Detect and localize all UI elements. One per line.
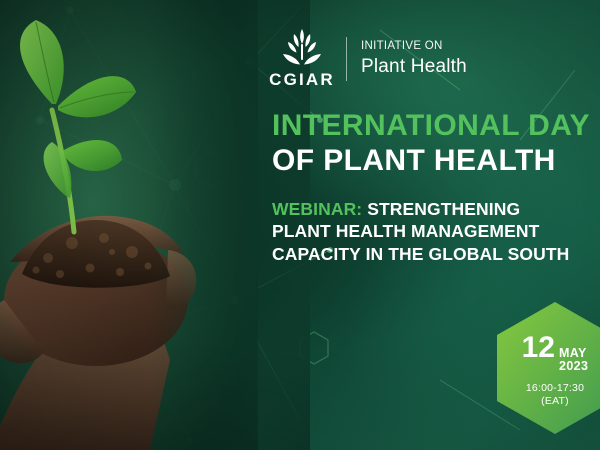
- wheat-sheaf-icon: [279, 28, 325, 68]
- headline-line-2: OF PLANT HEALTH: [272, 144, 600, 178]
- subhead: WEBINAR: STRENGTHENING PLANT HEALTH MANA…: [272, 198, 600, 265]
- cgiar-wordmark: CGIAR: [269, 70, 335, 90]
- subhead-line-2: PLANT HEALTH MANAGEMENT: [272, 220, 600, 242]
- initiative-lockup-text: INITIATIVE ON Plant Health: [361, 40, 467, 77]
- date-badge-content: 12 MAY 2023 16:00-17:30 (EAT): [492, 300, 600, 436]
- subhead-line-1: WEBINAR: STRENGTHENING: [272, 198, 600, 220]
- event-timezone: (EAT): [541, 395, 569, 407]
- date-badge: 12 MAY 2023 16:00-17:30 (EAT): [492, 300, 600, 436]
- subhead-line-1-rest: STRENGTHENING: [362, 199, 520, 219]
- headline: INTERNATIONAL DAY OF PLANT HEALTH: [272, 110, 600, 178]
- logo-divider: [346, 37, 347, 81]
- plant-health-webinar-banner: CGIAR INITIATIVE ON Plant Health INTERNA…: [0, 0, 600, 450]
- cgiar-logo-lockup: CGIAR INITIATIVE ON Plant Health: [272, 28, 467, 90]
- webinar-label: WEBINAR:: [272, 199, 362, 219]
- initiative-label: INITIATIVE ON: [361, 40, 467, 53]
- date-month-year: MAY 2023: [559, 347, 588, 373]
- event-time: 16:00-17:30: [526, 382, 584, 394]
- date-year: 2023: [559, 360, 588, 373]
- subhead-line-3: CAPACITY IN THE GLOBAL SOUTH: [272, 243, 600, 265]
- date-row: 12 MAY 2023: [522, 333, 589, 373]
- date-day: 12: [522, 333, 555, 363]
- cgiar-logo-mark: CGIAR: [272, 28, 332, 90]
- initiative-name: Plant Health: [361, 56, 467, 78]
- headline-line-1: INTERNATIONAL DAY: [272, 110, 600, 142]
